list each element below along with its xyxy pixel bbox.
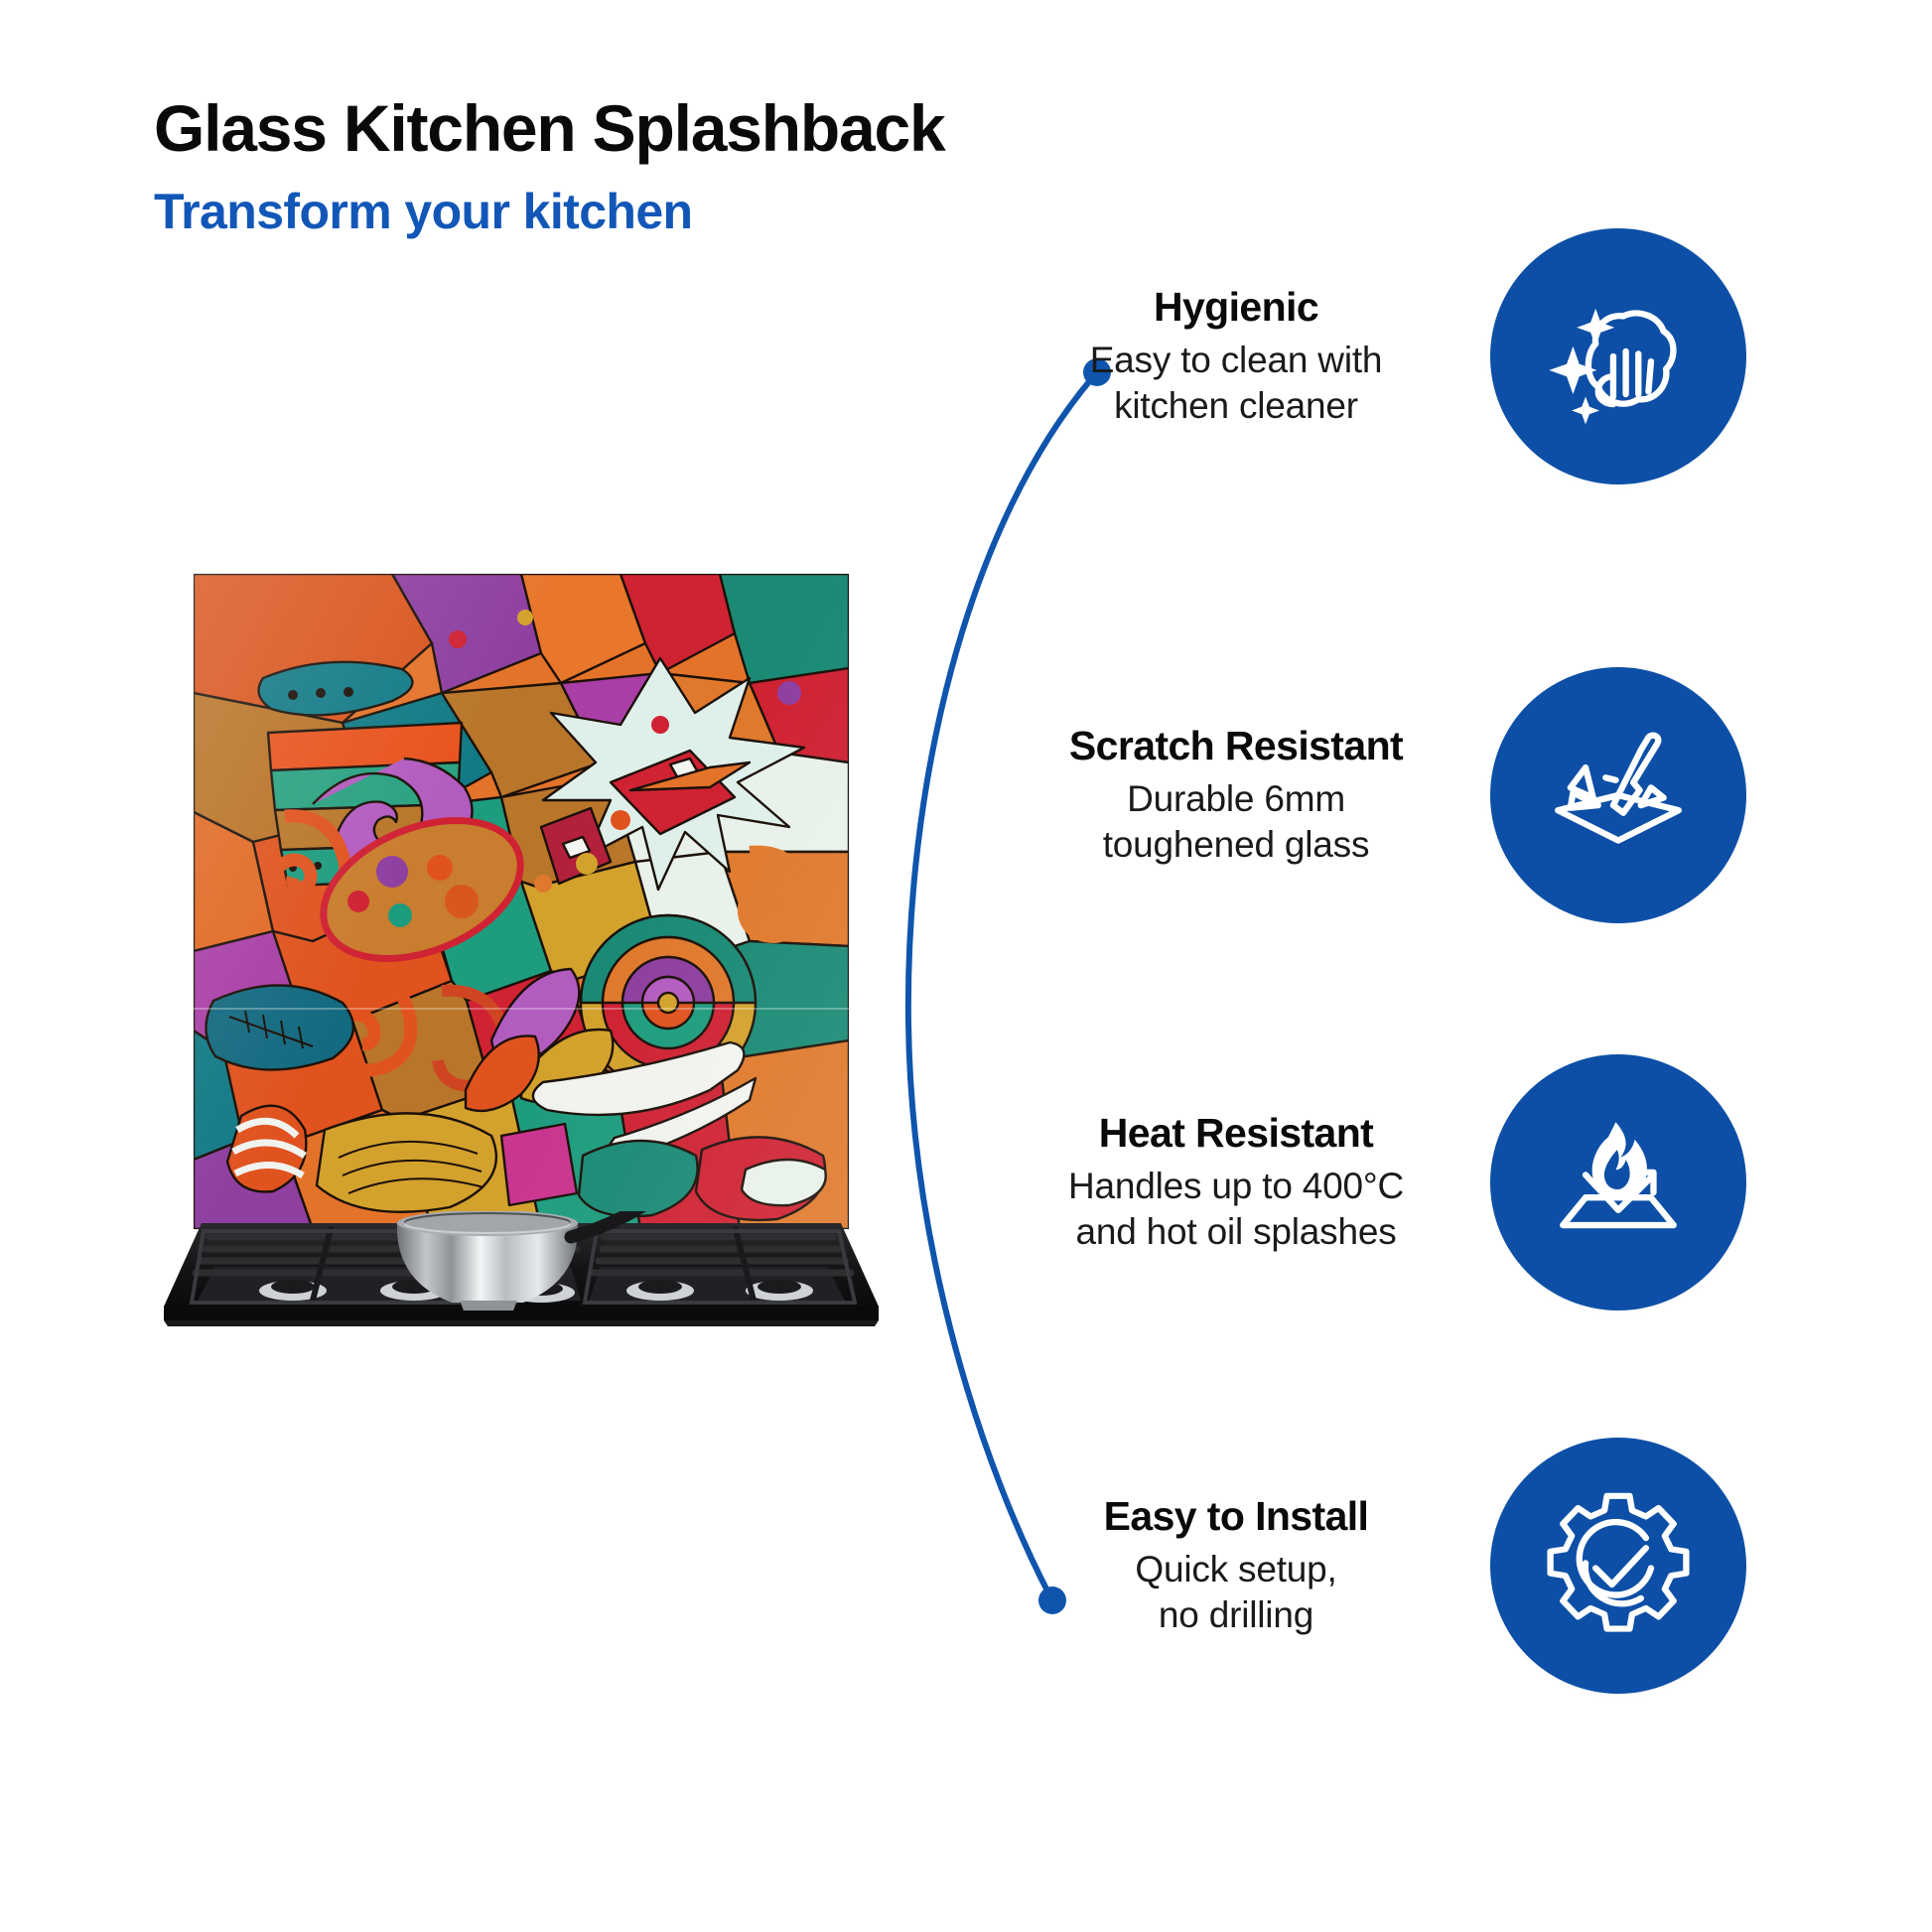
feature-icon-badge <box>1490 1438 1746 1694</box>
feature-desc-line: kitchen cleaner <box>1028 383 1445 430</box>
feature-icon-badge <box>1490 667 1746 923</box>
feature-description: Durable 6mm toughened glass <box>1028 776 1445 869</box>
feature-title: Hygienic <box>1028 283 1445 331</box>
knife-impact-surface-icon <box>1543 720 1694 871</box>
product-image <box>144 556 898 1330</box>
splashback-panel <box>194 574 849 1229</box>
feature-title: Heat Resistant <box>1028 1109 1445 1157</box>
feature-title: Easy to Install <box>1028 1492 1445 1540</box>
gas-hob <box>144 1211 898 1330</box>
feature-easy-to-install: Easy to Install Quick setup, no drilling <box>1028 1438 1746 1694</box>
feature-description: Quick setup, no drilling <box>1028 1547 1445 1639</box>
feature-icon-badge <box>1490 228 1746 484</box>
feature-desc-line: Easy to clean with <box>1028 338 1445 384</box>
feature-desc-line: Handles up to 400°C <box>1028 1164 1445 1210</box>
page-subtitle: Transform your kitchen <box>154 183 945 240</box>
feature-desc-line: toughened glass <box>1028 822 1445 869</box>
feature-description: Handles up to 400°C and hot oil splashes <box>1028 1164 1445 1256</box>
hand-wiping-sparkle-icon <box>1543 281 1694 432</box>
feature-text: Hygienic Easy to clean with kitchen clea… <box>1028 283 1445 430</box>
feature-scratch-resistant: Scratch Resistant Durable 6mm toughened … <box>1028 667 1746 923</box>
feature-title: Scratch Resistant <box>1028 722 1445 769</box>
gear-checkmark-icon <box>1543 1490 1694 1641</box>
feature-heat-resistant: Heat Resistant Handles up to 400°C and h… <box>1028 1054 1746 1311</box>
feature-text: Heat Resistant Handles up to 400°C and h… <box>1028 1109 1445 1256</box>
flame-deflect-arrow-icon <box>1543 1107 1694 1258</box>
splashback-pattern <box>194 574 849 1229</box>
feature-text: Scratch Resistant Durable 6mm toughened … <box>1028 722 1445 869</box>
header-block: Glass Kitchen Splashback Transform your … <box>154 94 945 240</box>
feature-desc-line: and hot oil splashes <box>1028 1209 1445 1256</box>
feature-hygienic: Hygienic Easy to clean with kitchen clea… <box>1028 228 1746 484</box>
feature-icon-badge <box>1490 1054 1746 1311</box>
feature-text: Easy to Install Quick setup, no drilling <box>1028 1492 1445 1639</box>
page-title: Glass Kitchen Splashback <box>154 94 945 163</box>
feature-desc-line: Durable 6mm <box>1028 776 1445 823</box>
feature-desc-line: no drilling <box>1028 1592 1445 1639</box>
feature-desc-line: Quick setup, <box>1028 1547 1445 1593</box>
feature-description: Easy to clean with kitchen cleaner <box>1028 338 1445 430</box>
